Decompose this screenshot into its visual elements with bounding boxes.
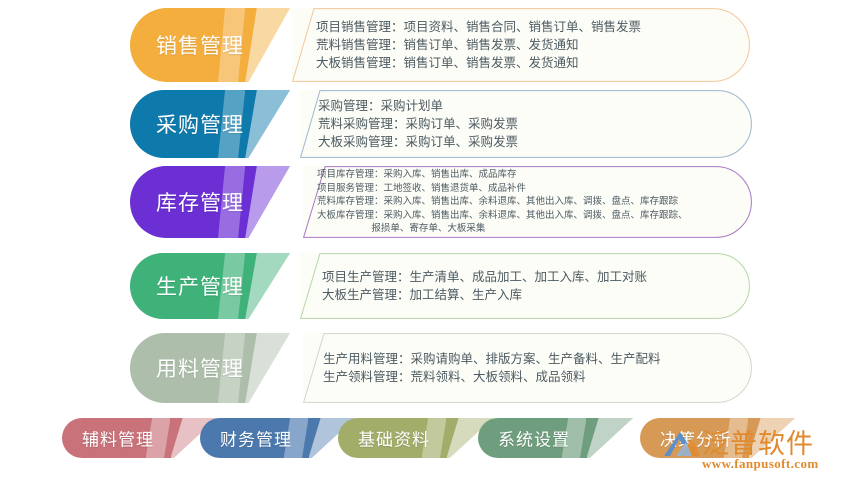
module-row-purchase: 采购管理：采购计划单荒料采购管理：采购订单、采购发票大板采购管理：采购订单、采购… [0,90,842,158]
module-row-material: 生产用料管理：采购请购单、排版方案、生产备料、生产配料生产领料管理：荒料领料、大… [0,333,842,403]
module-row-sales: 项目销售管理：项目资料、销售合同、销售订单、销售发票荒料销售管理：销售订单、销售… [0,8,842,82]
module-label-text: 用料管理 [156,353,244,383]
panel-line: 项目服务管理：工地签收、销售退货单、成品补件 [317,182,752,196]
module-row-inventory: 项目库存管理：采购入库、销售出库、成品库存项目服务管理：工地签收、销售退货单、成… [0,166,842,238]
brand-watermark: 泛普软件 www.fanpusoft.com [658,420,836,478]
module-label-production[interactable]: 生产管理 [130,253,290,319]
module-label-text: 库存管理 [156,187,244,217]
badge-finance[interactable]: 财务管理 [200,418,355,458]
panel-line: 项目生产管理：生产清单、成品加工、加工入库、加工对账 [322,268,750,286]
panel-line: 报损单、寄存单、大板采集 [317,222,752,236]
panel-line: 项目销售管理：项目资料、销售合同、销售订单、销售发票 [316,18,750,36]
panel-line: 大板销售管理：销售订单、销售发票、发货通知 [316,54,750,72]
badge-text: 财务管理 [220,426,292,451]
module-row-production: 项目生产管理：生产清单、成品加工、加工入库、加工对账大板生产管理：加工结算、生产… [0,253,842,319]
fanpu-logo-icon [662,426,702,458]
module-label-sales[interactable]: 销售管理 [130,8,290,82]
panel-text-block-inventory: 项目库存管理：采购入库、销售出库、成品库存项目服务管理：工地签收、销售退货单、成… [303,166,752,238]
panel-line: 生产用料管理：采购请购单、排版方案、生产备料、生产配料 [323,350,752,368]
module-detail-panel-production: 项目生产管理：生产清单、成品加工、加工入库、加工对账大板生产管理：加工结算、生产… [300,253,750,319]
panel-line: 大板采购管理：采购订单、采购发票 [318,133,752,151]
module-label-purchase[interactable]: 采购管理 [130,90,290,158]
badge-system[interactable]: 系统设置 [478,418,633,458]
panel-line: 荒料采购管理：采购订单、采购发票 [318,115,752,133]
badge-text: 系统设置 [498,426,570,451]
module-detail-panel-material: 生产用料管理：采购请购单、排版方案、生产备料、生产配料生产领料管理：荒料领料、大… [303,333,752,403]
module-label-inventory[interactable]: 库存管理 [130,166,290,238]
badge-basic-data[interactable]: 基础资料 [338,418,493,458]
panel-text-block-production: 项目生产管理：生产清单、成品加工、加工入库、加工对账大板生产管理：加工结算、生产… [300,253,750,319]
badge-text: 辅料管理 [82,426,154,451]
module-label-text: 采购管理 [156,109,244,139]
panel-text-block-material: 生产用料管理：采购请购单、排版方案、生产备料、生产配料生产领料管理：荒料领料、大… [303,333,752,403]
module-overview-diagram: 项目销售管理：项目资料、销售合同、销售订单、销售发票荒料销售管理：销售订单、销售… [0,0,842,480]
module-detail-panel-purchase: 采购管理：采购计划单荒料采购管理：采购订单、采购发票大板采购管理：采购订单、采购… [300,90,752,158]
module-label-material[interactable]: 用料管理 [130,333,290,403]
module-detail-panel-sales: 项目销售管理：项目资料、销售合同、销售订单、销售发票荒料销售管理：销售订单、销售… [292,8,750,82]
module-label-text: 销售管理 [156,30,244,60]
badge-auxiliary[interactable]: 辅料管理 [62,418,217,458]
panel-line: 生产领料管理：荒料领料、大板领料、成品领料 [323,368,752,386]
panel-line: 项目库存管理：采购入库、销售出库、成品库存 [317,168,752,182]
panel-line: 采购管理：采购计划单 [318,97,752,115]
panel-line: 荒料销售管理：销售订单、销售发票、发货通知 [316,36,750,54]
panel-text-block-sales: 项目销售管理：项目资料、销售合同、销售订单、销售发票荒料销售管理：销售订单、销售… [292,8,750,82]
panel-line: 大板生产管理：加工结算、生产入库 [322,286,750,304]
panel-text-block-purchase: 采购管理：采购计划单荒料采购管理：采购订单、采购发票大板采购管理：采购订单、采购… [300,90,752,158]
module-label-text: 生产管理 [156,271,244,301]
watermark-url: www.fanpusoft.com [702,456,819,472]
panel-line: 荒料库存管理：采购入库、销售出库、余料退库、其他出入库、调拨、盘点、库存跟踪 [317,195,752,209]
module-detail-panel-inventory: 项目库存管理：采购入库、销售出库、成品库存项目服务管理：工地签收、销售退货单、成… [303,166,752,238]
panel-line: 大板库存管理：采购入库、销售出库、余料退库、其他出入库、调拨、盘点、库存跟踪、 [317,209,752,223]
badge-text: 基础资料 [358,426,430,451]
